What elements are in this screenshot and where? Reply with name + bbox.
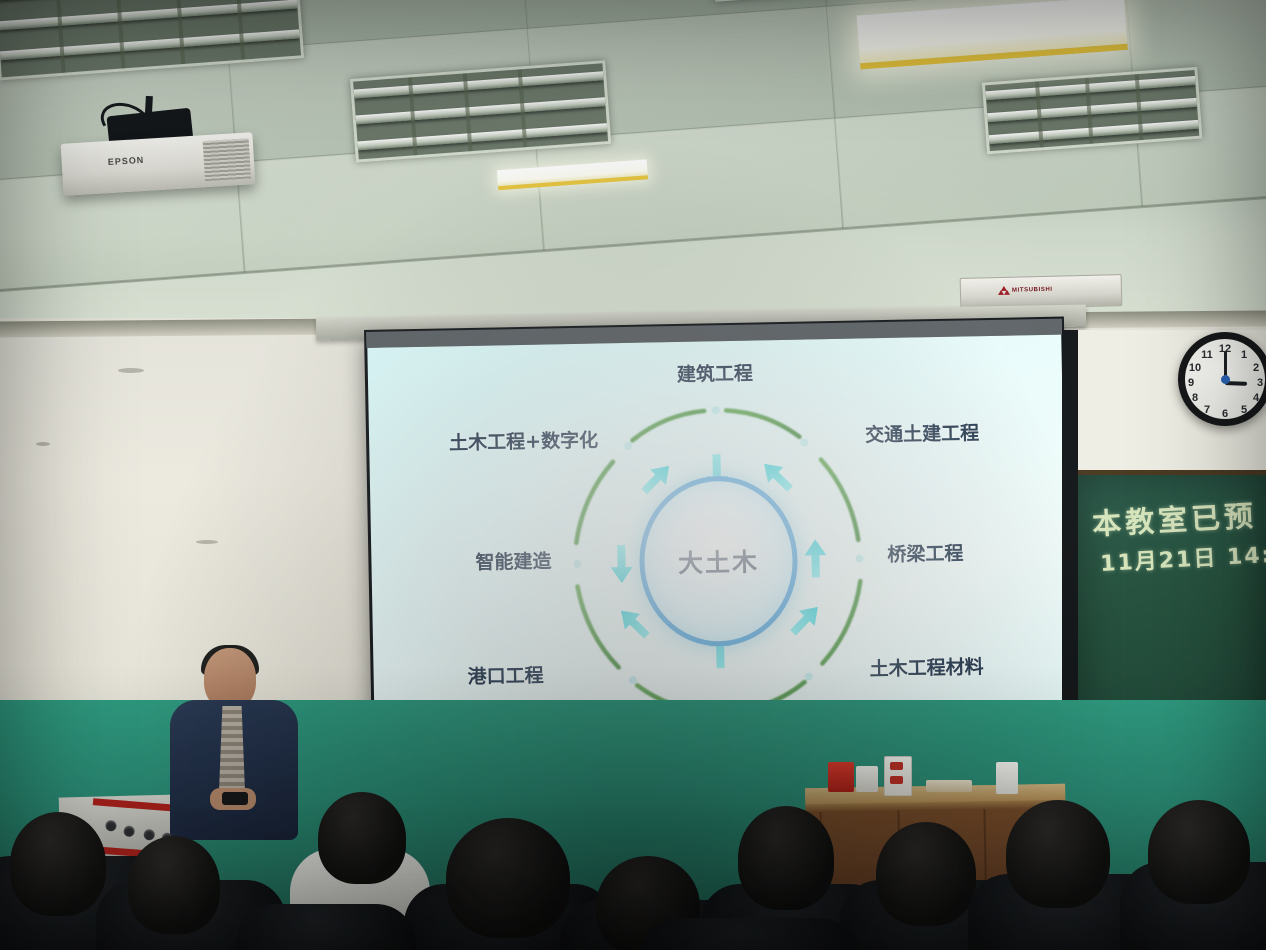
clock-number: 3 — [1253, 377, 1266, 389]
audience-head — [876, 822, 976, 926]
audience-member — [236, 904, 416, 950]
audience-head — [446, 818, 570, 938]
clock-number: 4 — [1249, 392, 1263, 404]
clock-number: 6 — [1218, 408, 1232, 420]
classroom-scene: EPSON MITSUBISHI — [0, 0, 1266, 950]
audience-head — [10, 812, 106, 916]
projector-vents — [203, 138, 251, 181]
wall-clock: 12 1 2 3 4 5 6 7 8 9 10 11 — [1178, 332, 1266, 426]
clock-center-hub — [1221, 375, 1230, 384]
red-box — [828, 762, 854, 792]
clock-number: 10 — [1188, 362, 1202, 374]
presenter — [164, 648, 314, 838]
label-left: 智能建造 — [475, 546, 552, 574]
chalk-text-line2: 11月21日 14:0 — [1099, 536, 1266, 578]
presentation-clicker — [222, 792, 248, 805]
ac-brand-label: MITSUBISHI — [1012, 286, 1053, 293]
clock-number: 2 — [1249, 362, 1263, 374]
clock-number: 9 — [1184, 377, 1198, 389]
clock-number: 5 — [1237, 404, 1251, 416]
audience-head — [738, 806, 834, 910]
clock-number: 7 — [1200, 404, 1214, 416]
label-top-right: 交通土建工程 — [865, 418, 980, 447]
clock-number: 8 — [1188, 392, 1202, 404]
core-label: 大土木 — [678, 542, 760, 580]
mitsubishi-logo: MITSUBISHI — [999, 285, 1053, 295]
white-carton — [856, 766, 878, 792]
audience-head — [1006, 800, 1110, 908]
diagram-ring: 大土木 — [560, 393, 876, 729]
chalk-text-line1: 本教室已预 — [1091, 493, 1258, 544]
label-bottom-left: 港口工程 — [467, 660, 544, 688]
clock-number: 11 — [1200, 349, 1214, 361]
label-top-left: 土木工程+数字化 — [449, 425, 598, 455]
white-bottle — [996, 762, 1018, 794]
label-top: 建筑工程 — [677, 358, 754, 386]
clock-number: 1 — [1237, 349, 1251, 361]
label-right: 桥梁工程 — [887, 538, 964, 566]
flat-package — [926, 780, 972, 792]
audience-head — [318, 792, 406, 884]
audience-head — [128, 836, 220, 934]
projector-brand-label: EPSON — [107, 155, 144, 167]
clock-face: 12 1 2 3 4 5 6 7 8 9 10 11 — [1185, 339, 1265, 419]
label-bottom-right: 土木工程材料 — [869, 652, 984, 681]
box-label-mark — [890, 776, 903, 784]
audience-member — [640, 918, 860, 950]
audience-head — [1148, 800, 1250, 904]
box-label-mark — [890, 762, 903, 770]
mitsubishi-diamond-icon — [999, 286, 1009, 295]
